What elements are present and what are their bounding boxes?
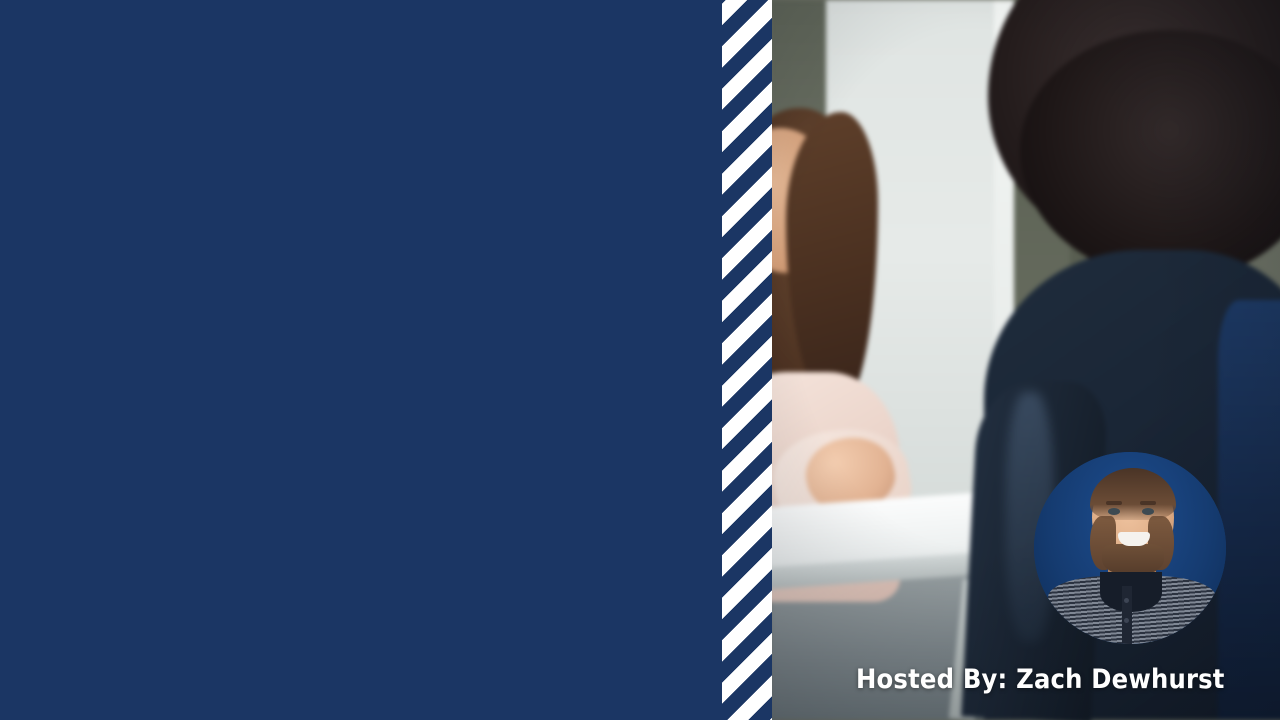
avatar-eye-left bbox=[1108, 508, 1120, 515]
avatar-placket bbox=[1122, 586, 1132, 644]
avatar-button-top bbox=[1124, 598, 1129, 603]
avatar-eyebrow-right bbox=[1140, 501, 1156, 505]
avatar-button-bottom bbox=[1124, 618, 1129, 623]
avatar-smile bbox=[1118, 532, 1150, 546]
diagonal-stripe-divider bbox=[722, 0, 772, 720]
host-avatar bbox=[1034, 452, 1226, 644]
webinar-title-slide: Print Fundraising printphase DECA COMPET… bbox=[0, 0, 1280, 720]
left-navy-panel bbox=[0, 0, 722, 720]
avatar-eye-right bbox=[1142, 508, 1154, 515]
avatar-eyebrow-left bbox=[1106, 501, 1122, 505]
host-label: Hosted By: Zach Dewhurst bbox=[856, 666, 1225, 693]
